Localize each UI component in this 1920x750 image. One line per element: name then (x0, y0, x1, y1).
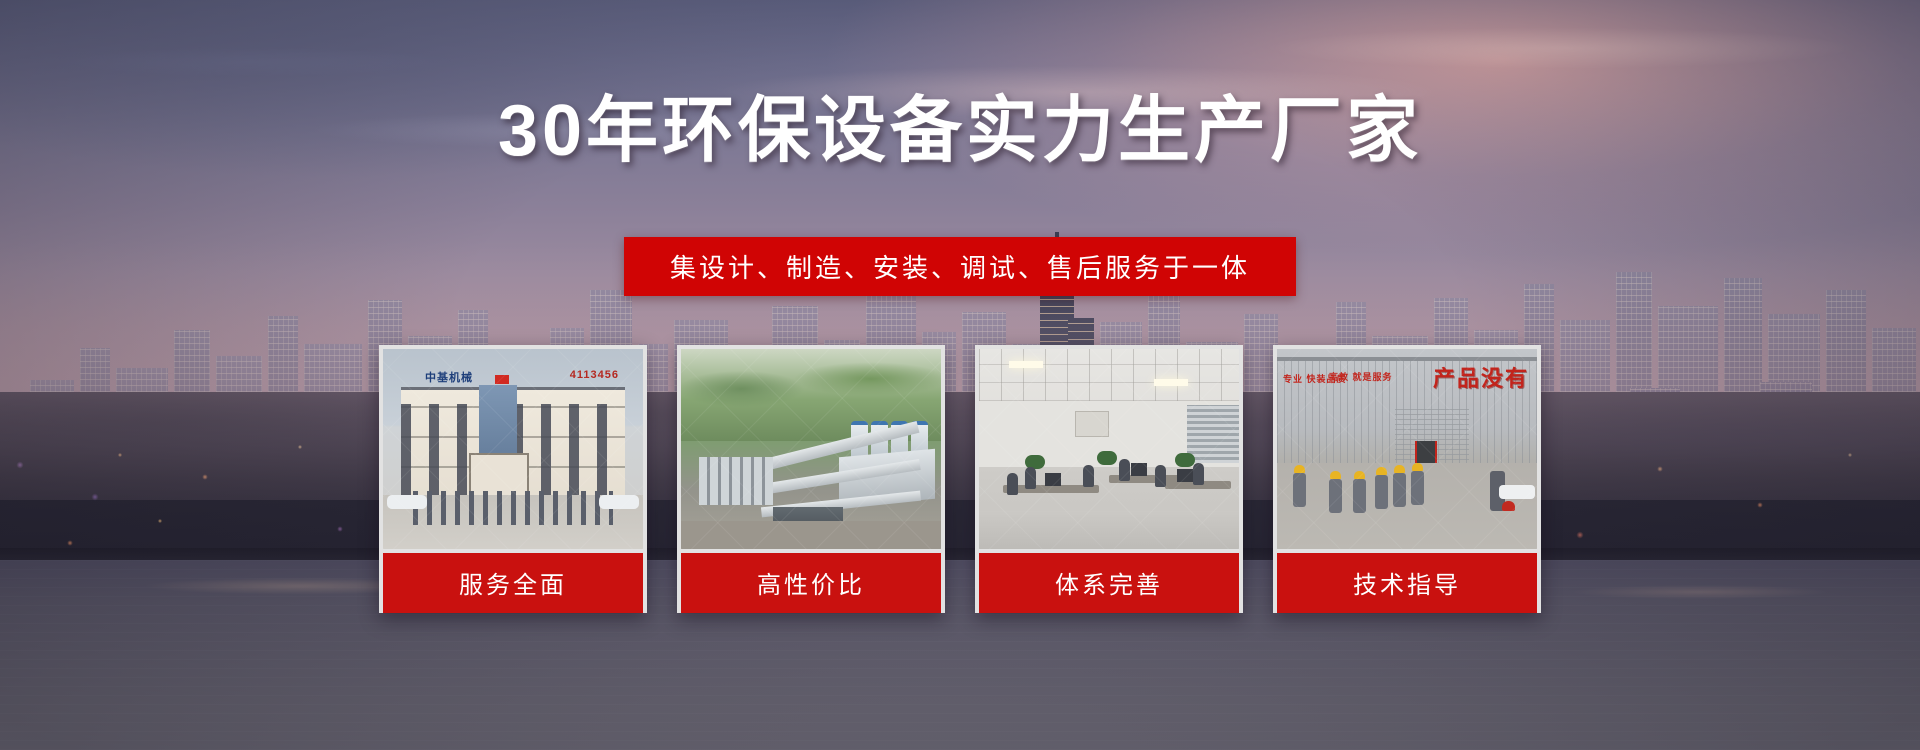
feature-card-list: 中基机械 4113456 服务全面 (379, 345, 1541, 613)
card-thumbnail-office-building: 中基机械 4113456 (383, 349, 643, 549)
card-thumbnail-industrial-plant (681, 349, 941, 549)
watermark-pattern (1277, 349, 1537, 549)
card-thumbnail-factory-yard: 专业 快装品质 高效 就是服务 产品没有 (1277, 349, 1537, 549)
card-caption: 高性价比 (681, 549, 941, 613)
card-caption: 服务全面 (383, 549, 643, 613)
card-thumbnail-office-interior (979, 349, 1239, 549)
banner-subtitle-ribbon: 集设计、制造、安装、调试、售后服务于一体 (624, 237, 1296, 296)
watermark-pattern (681, 349, 941, 549)
feature-card[interactable]: 体系完善 (975, 345, 1243, 613)
watermark-pattern (383, 349, 643, 549)
card-caption: 技术指导 (1277, 549, 1537, 613)
hero-banner: 30年环保设备实力生产厂家 集设计、制造、安装、调试、售后服务于一体 中基机械 … (0, 0, 1920, 750)
feature-card[interactable]: 中基机械 4113456 服务全面 (379, 345, 647, 613)
banner-headline: 30年环保设备实力生产厂家 (0, 95, 1920, 167)
feature-card[interactable]: 高性价比 (677, 345, 945, 613)
watermark-pattern (979, 349, 1239, 549)
card-caption: 体系完善 (979, 549, 1239, 613)
banner-content: 30年环保设备实力生产厂家 集设计、制造、安装、调试、售后服务于一体 中基机械 … (0, 0, 1920, 750)
feature-card[interactable]: 专业 快装品质 高效 就是服务 产品没有 (1273, 345, 1541, 613)
